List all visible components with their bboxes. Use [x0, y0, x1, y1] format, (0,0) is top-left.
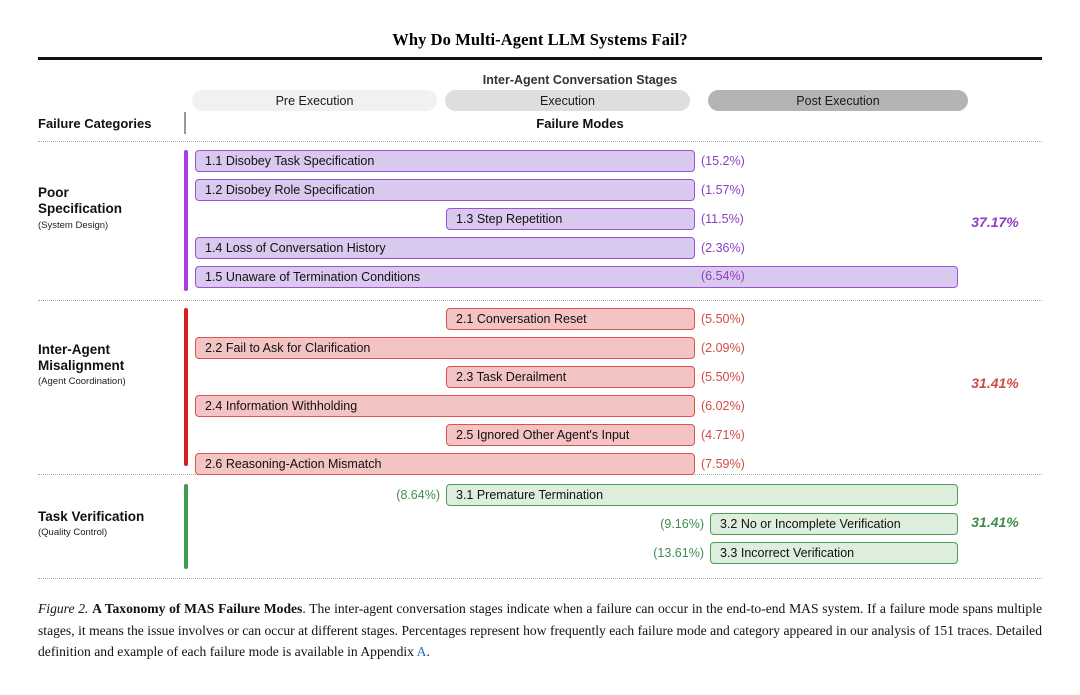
- separator-bottom: [38, 578, 1042, 579]
- title-rule: [38, 57, 1042, 60]
- failure-mode-bar[interactable]: 2.4 Information Withholding: [195, 395, 695, 417]
- caption-bold-title: A Taxonomy of MAS Failure Modes: [92, 601, 302, 616]
- failure-mode-percentage: (8.64%): [370, 484, 440, 506]
- failure-mode-bar[interactable]: 3.1 Premature Termination: [446, 484, 958, 506]
- failure-mode-percentage: (6.02%): [701, 395, 771, 417]
- failure-mode-bar[interactable]: 2.1 Conversation Reset: [446, 308, 695, 330]
- figure-page: Why Do Multi-Agent LLM Systems Fail? Int…: [0, 0, 1080, 695]
- failure-mode-bar[interactable]: 2.2 Fail to Ask for Clarification: [195, 337, 695, 359]
- category-total-percentage: 37.17%: [948, 214, 1042, 230]
- stage-pill-pre-execution: Pre Execution: [192, 90, 437, 111]
- separator-1: [38, 300, 1042, 301]
- failure-mode-percentage: (7.59%): [701, 453, 771, 475]
- category-name: Inter-AgentMisalignment: [38, 342, 184, 374]
- failure-categories-header: Failure Categories: [38, 116, 178, 131]
- category-accent-bar: [184, 308, 188, 466]
- failure-mode-percentage: (2.36%): [701, 237, 771, 259]
- failure-mode-bar[interactable]: 3.3 Incorrect Verification: [710, 542, 958, 564]
- category-subtitle: (Agent Coordination): [38, 376, 184, 388]
- category-subtitle: (Quality Control): [38, 527, 184, 539]
- failure-mode-bar[interactable]: 2.3 Task Derailment: [446, 366, 695, 388]
- failure-mode-bar[interactable]: 2.6 Reasoning-Action Mismatch: [195, 453, 695, 475]
- caption-body-end: .: [426, 644, 429, 659]
- failure-mode-percentage: (6.54%): [701, 267, 771, 289]
- failure-mode-bar[interactable]: 2.5 Ignored Other Agent's Input: [446, 424, 695, 446]
- failure-mode-percentage: (11.5%): [701, 208, 771, 230]
- failure-mode-percentage: (5.50%): [701, 308, 771, 330]
- failure-mode-percentage: (9.16%): [634, 513, 704, 535]
- failure-mode-percentage: (15.2%): [701, 150, 771, 172]
- category-name: Task Verification: [38, 509, 184, 525]
- stage-pill-row: Pre Execution Execution Post Execution: [192, 90, 968, 111]
- failure-mode-bar[interactable]: 1.4 Loss of Conversation History: [195, 237, 695, 259]
- category-accent-bar: [184, 484, 188, 569]
- category-total-percentage: 31.41%: [948, 514, 1042, 530]
- failure-mode-bar[interactable]: 1.1 Disobey Task Specification: [195, 150, 695, 172]
- failure-mode-percentage: (13.61%): [634, 542, 704, 564]
- stages-caption: Inter-Agent Conversation Stages: [192, 73, 968, 87]
- header-divider: [184, 112, 186, 134]
- failure-mode-percentage: (5.50%): [701, 366, 771, 388]
- category-accent-bar: [184, 150, 188, 291]
- stage-pill-execution: Execution: [445, 90, 690, 111]
- failure-mode-bar[interactable]: 1.3 Step Repetition: [446, 208, 695, 230]
- caption-appendix-link[interactable]: A: [417, 644, 427, 659]
- failure-mode-bar[interactable]: 1.2 Disobey Role Specification: [195, 179, 695, 201]
- failure-modes-header: Failure Modes: [192, 116, 968, 131]
- caption-figure-label: Figure 2.: [38, 601, 88, 616]
- failure-mode-percentage: (4.71%): [701, 424, 771, 446]
- failure-mode-bar[interactable]: 3.2 No or Incomplete Verification: [710, 513, 958, 535]
- category-total-percentage: 31.41%: [948, 375, 1042, 391]
- figure-caption: Figure 2. A Taxonomy of MAS Failure Mode…: [38, 598, 1042, 663]
- page-title: Why Do Multi-Agent LLM Systems Fail?: [38, 30, 1042, 50]
- failure-mode-percentage: (1.57%): [701, 179, 771, 201]
- stage-pill-post-execution: Post Execution: [708, 90, 968, 111]
- separator-top: [38, 141, 1042, 142]
- category-subtitle: (System Design): [38, 220, 184, 232]
- failure-mode-bar[interactable]: 1.5 Unaware of Termination Conditions(6.…: [195, 266, 958, 288]
- failure-mode-percentage: (2.09%): [701, 337, 771, 359]
- category-name: PoorSpecification: [38, 185, 184, 217]
